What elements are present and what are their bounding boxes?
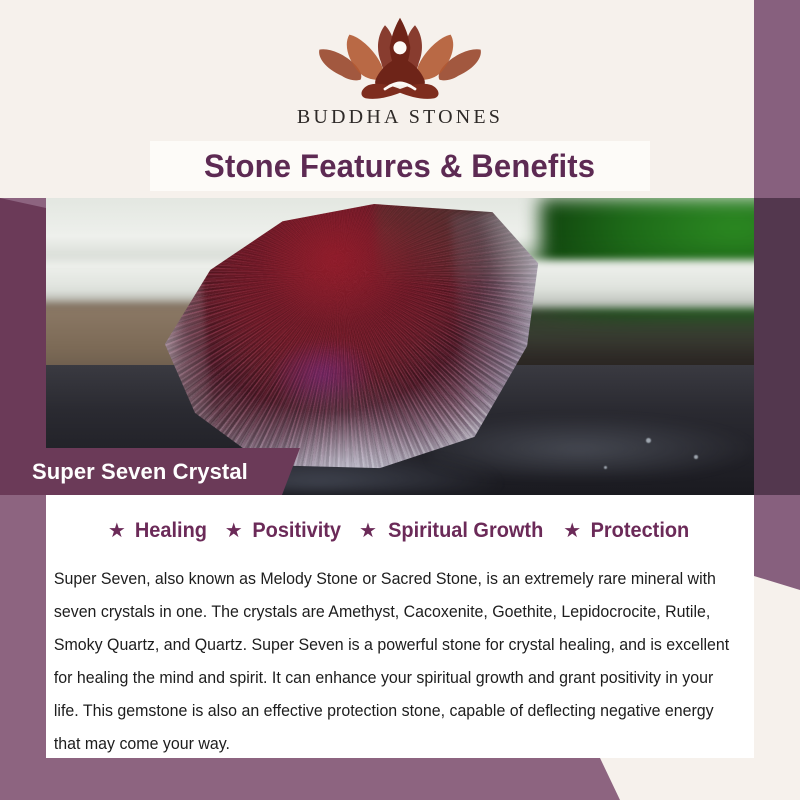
brand-name: BUDDHA STONES	[270, 106, 530, 129]
star-icon: ★	[359, 521, 377, 541]
benefit-label: Spiritual Growth	[388, 519, 543, 543]
stone-name-text: Super Seven Crystal	[0, 459, 248, 485]
benefit-item-protection: ★ Protection	[563, 519, 692, 543]
photo-table-sparkle	[694, 455, 698, 459]
brand-logo: BUDDHA STONES	[270, 14, 530, 129]
content-panel: ★ Healing ★ Positivity ★ Spiritual Growt…	[46, 495, 754, 758]
lotus-meditation-icon	[305, 14, 495, 104]
stone-description: Super Seven, also known as Melody Stone …	[46, 563, 743, 761]
benefit-item-positivity: ★ Positivity	[225, 519, 343, 543]
poster-canvas: BUDDHA STONES Stone Features & Benefits	[0, 0, 800, 800]
photo-table-sparkle	[604, 466, 607, 469]
bottom-frame-bar	[0, 758, 800, 800]
benefit-label: Protection	[591, 519, 690, 543]
photo-table-sparkle	[646, 438, 651, 443]
benefit-label: Healing	[135, 519, 207, 543]
benefit-item-healing: ★ Healing	[108, 519, 209, 543]
title-band: Stone Features & Benefits	[150, 141, 650, 191]
benefit-item-spiritual-growth: ★ Spiritual Growth	[359, 519, 547, 543]
page-title: Stone Features & Benefits	[204, 148, 595, 185]
benefit-label: Positivity	[252, 519, 341, 543]
right-frame-bar-overlay	[754, 198, 800, 495]
benefits-row: ★ Healing ★ Positivity ★ Spiritual Growt…	[46, 519, 754, 543]
star-icon: ★	[108, 521, 126, 541]
star-icon: ★	[225, 521, 243, 541]
star-icon: ★	[563, 521, 581, 541]
stone-name-label: Super Seven Crystal	[0, 448, 300, 495]
